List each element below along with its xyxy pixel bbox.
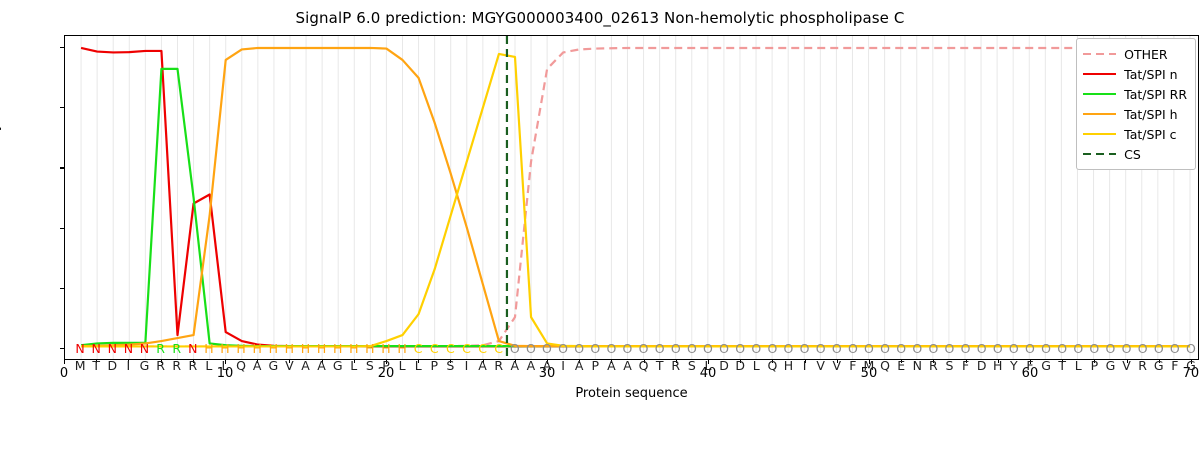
annotation-letter: H: [349, 343, 358, 356]
residue-letter: A: [623, 360, 632, 373]
series-line-tat-spi-c: [81, 54, 1190, 346]
series-line-tat-spi-h: [81, 48, 1190, 346]
annotation-letter: O: [1170, 343, 1180, 356]
annotation-letter: O: [1106, 343, 1116, 356]
annotation-letter: O: [1138, 343, 1148, 356]
residue-letter: P: [382, 360, 390, 373]
page-title: SignalP 6.0 prediction: MGYG000003400_02…: [0, 9, 1200, 27]
annotation-letter: O: [526, 343, 536, 356]
y-tick-mark: [60, 288, 64, 289]
residue-letter: V: [285, 360, 294, 373]
y-tick-mark: [60, 228, 64, 229]
annotation-letter: H: [204, 343, 213, 356]
residue-letter: V: [832, 360, 841, 373]
residue-letter: R: [929, 360, 938, 373]
legend-label: Tat/SPI h: [1124, 107, 1177, 122]
residue-letter: L: [1075, 360, 1082, 373]
residue-letter: S: [366, 360, 374, 373]
annotation-letter: H: [365, 343, 374, 356]
residue-letter: L: [704, 360, 711, 373]
annotation-letter: O: [735, 343, 745, 356]
residue-letter: N: [913, 360, 922, 373]
legend-item[interactable]: OTHER: [1083, 44, 1187, 64]
annotation-letter: O: [1186, 343, 1196, 356]
residue-letter: A: [478, 360, 487, 373]
annotation-letter: N: [75, 343, 84, 356]
residue-letter: Y: [1010, 360, 1018, 373]
annotation-letter: H: [220, 343, 229, 356]
legend-label: Tat/SPI c: [1124, 127, 1176, 142]
annotation-letter: C: [478, 343, 487, 356]
residue-letter: G: [1041, 360, 1051, 373]
residue-letter: Q: [767, 360, 777, 373]
legend-label: OTHER: [1124, 47, 1167, 62]
annotation-letter: O: [800, 343, 810, 356]
residue-letter: A: [527, 360, 536, 373]
annotation-letter: O: [751, 343, 761, 356]
residue-letter: R: [1138, 360, 1147, 373]
legend: OTHERTat/SPI nTat/SPI RRTat/SPI hTat/SPI…: [1076, 38, 1196, 170]
residue-letter: A: [317, 360, 326, 373]
annotation-letter: O: [574, 343, 584, 356]
residue-letter: A: [253, 360, 262, 373]
annotation-letter: O: [1122, 343, 1132, 356]
annotation-letter: O: [880, 343, 890, 356]
residue-letter: L: [205, 360, 212, 373]
annotation-letter: C: [446, 343, 455, 356]
annotation-letter: O: [977, 343, 987, 356]
annotation-letter: O: [1154, 343, 1164, 356]
residue-letter: L: [222, 360, 229, 373]
annotation-letter: O: [719, 343, 729, 356]
residue-letter: T: [92, 360, 100, 373]
legend-label: Tat/SPI RR: [1124, 87, 1187, 102]
residue-letter: I: [127, 360, 131, 373]
annotation-letter: O: [848, 343, 858, 356]
residue-letter: R: [156, 360, 165, 373]
residue-letter: A: [575, 360, 584, 373]
y-axis-label: Probability: [0, 123, 2, 192]
residue-letter: G: [140, 360, 150, 373]
annotation-letter: O: [784, 343, 794, 356]
legend-label: Tat/SPI n: [1124, 67, 1177, 82]
legend-label: CS: [1124, 147, 1141, 162]
annotation-letter: N: [140, 343, 149, 356]
annotation-letter: O: [542, 343, 552, 356]
annotation-letter: H: [252, 343, 261, 356]
annotation-letter: O: [671, 343, 681, 356]
legend-item[interactable]: CS: [1083, 144, 1187, 164]
residue-letter: Q: [880, 360, 890, 373]
annotation-letter: O: [896, 343, 906, 356]
residue-letter: G: [1106, 360, 1116, 373]
residue-letter: F: [1171, 360, 1178, 373]
residue-letter: L: [350, 360, 357, 373]
series-line-tat-spi-rr: [81, 69, 1190, 346]
residue-letter: E: [897, 360, 905, 373]
annotation-letter: O: [945, 343, 955, 356]
annotation-letter: C: [462, 343, 471, 356]
legend-item[interactable]: Tat/SPI RR: [1083, 84, 1187, 104]
annotation-letter: H: [269, 343, 278, 356]
annotation-letter: O: [623, 343, 633, 356]
annotation-letter: O: [703, 343, 713, 356]
annotation-letter: O: [1041, 343, 1051, 356]
annotation-letter: O: [993, 343, 1003, 356]
y-tick-mark: [60, 167, 64, 168]
annotation-letter: O: [1089, 343, 1099, 356]
annotation-letter: N: [124, 343, 133, 356]
residue-letter: S: [446, 360, 454, 373]
residue-letter: G: [1154, 360, 1164, 373]
annotation-letter: C: [494, 343, 503, 356]
residue-letter: R: [188, 360, 197, 373]
residue-letter: F: [962, 360, 969, 373]
annotation-letter: O: [832, 343, 842, 356]
annotation-letter: O: [510, 343, 520, 356]
annotation-letter: R: [156, 343, 165, 356]
residue-letter: Q: [236, 360, 246, 373]
annotation-letter: H: [333, 343, 342, 356]
residue-letter: A: [301, 360, 310, 373]
annotation-letter: O: [1057, 343, 1067, 356]
annotation-letter: O: [864, 343, 874, 356]
residue-letter: T: [656, 360, 664, 373]
residue-letter: R: [671, 360, 680, 373]
annotation-letter: O: [928, 343, 938, 356]
annotation-letter: H: [381, 343, 390, 356]
residue-letter: S: [688, 360, 696, 373]
residue-letter: H: [784, 360, 793, 373]
residue-letter: F: [849, 360, 856, 373]
legend-item[interactable]: Tat/SPI h: [1083, 104, 1187, 124]
residue-letter: P: [591, 360, 599, 373]
residue-letter: M: [75, 360, 86, 373]
residue-letter: A: [510, 360, 519, 373]
residue-letter: V: [816, 360, 825, 373]
annotation-letter: O: [687, 343, 697, 356]
y-tick-mark: [60, 47, 64, 48]
residue-letter: I: [465, 360, 469, 373]
residue-letter: D: [719, 360, 729, 373]
annotation-letter: O: [816, 343, 826, 356]
plot-area: [64, 35, 1199, 360]
annotation-letter: O: [1025, 343, 1035, 356]
y-tick-mark: [60, 107, 64, 108]
residue-letter: P: [431, 360, 439, 373]
annotation-letter: O: [1009, 343, 1019, 356]
annotation-letter: N: [108, 343, 117, 356]
residue-letter: V: [1122, 360, 1131, 373]
annotation-letter: N: [92, 343, 101, 356]
residue-letter: G: [333, 360, 343, 373]
annotation-letter: O: [767, 343, 777, 356]
annotation-letter: H: [317, 343, 326, 356]
residue-letter: D: [735, 360, 745, 373]
x-axis-label: Protein sequence: [64, 386, 1199, 401]
sequence-track: NMNTNDNINGRRRRNRHLHLHQHAHGHVHAHAHGHLHSHP…: [64, 343, 1199, 378]
annotation-letter: H: [236, 343, 245, 356]
residue-letter: D: [977, 360, 987, 373]
residue-letter: R: [172, 360, 181, 373]
annotation-letter: O: [655, 343, 665, 356]
residue-letter: I: [561, 360, 565, 373]
residue-letter: S: [945, 360, 953, 373]
annotation-letter: N: [188, 343, 197, 356]
residue-letter: A: [543, 360, 552, 373]
signalp-prediction-figure: SignalP 6.0 prediction: MGYG000003400_02…: [0, 0, 1200, 450]
annotation-letter: O: [912, 343, 922, 356]
annotation-letter: H: [397, 343, 406, 356]
annotation-letter: C: [430, 343, 439, 356]
residue-letter: F: [1026, 360, 1033, 373]
residue-letter: D: [107, 360, 117, 373]
annotation-letter: O: [1073, 343, 1083, 356]
residue-letter: A: [607, 360, 616, 373]
annotation-letter: O: [590, 343, 600, 356]
residue-letter: R: [494, 360, 503, 373]
legend-item[interactable]: Tat/SPI n: [1083, 64, 1187, 84]
annotation-letter: H: [301, 343, 310, 356]
residue-letter: L: [399, 360, 406, 373]
residue-letter: T: [1058, 360, 1066, 373]
residue-letter: H: [993, 360, 1002, 373]
annotation-letter: C: [414, 343, 423, 356]
annotation-letter: O: [961, 343, 971, 356]
annotation-letter: O: [558, 343, 568, 356]
annotation-letter: H: [285, 343, 294, 356]
series-line-other: [81, 48, 1190, 346]
residue-letter: Q: [639, 360, 649, 373]
annotation-letter: O: [639, 343, 649, 356]
residue-letter: L: [753, 360, 760, 373]
annotation-letter: O: [606, 343, 616, 356]
legend-item[interactable]: Tat/SPI c: [1083, 124, 1187, 144]
annotation-letter: R: [172, 343, 181, 356]
residue-letter: I: [803, 360, 807, 373]
series-line-tat-spi-n: [81, 48, 1190, 346]
residue-letter: M: [864, 360, 875, 373]
residue-letter: G: [268, 360, 278, 373]
curve-layer: [65, 36, 1198, 359]
residue-letter: L: [415, 360, 422, 373]
residue-letter: G: [1186, 360, 1196, 373]
residue-letter: P: [1091, 360, 1099, 373]
